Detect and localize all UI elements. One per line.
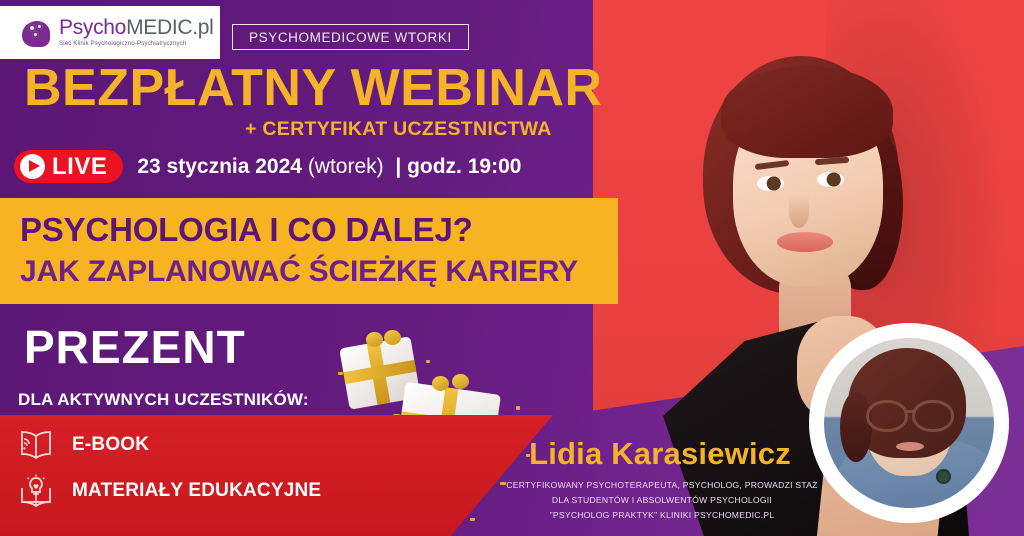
woman-nose — [789, 194, 809, 228]
woman-lips — [777, 232, 833, 252]
woman-eye-right — [817, 172, 844, 187]
main-headline: BEZPŁATNY WEBINAR — [24, 62, 603, 114]
gift-title: PREZENT — [24, 324, 246, 370]
speaker-name: Lidia Karasiewicz — [500, 436, 820, 472]
topic-line-1: PSYCHOLOGIA I CO DALEJ? — [20, 211, 473, 249]
speaker-credentials: CERTYFIKOWANY PSYCHOTERAPEUTA, PSYCHOLOG… — [492, 478, 832, 522]
datetime-separator: | — [395, 155, 401, 178]
live-badge: LIVE — [14, 150, 123, 183]
event-datetime: 23 stycznia 2024 (wtorek) | godz. 19:00 — [137, 155, 521, 179]
event-time: godz. 19:00 — [407, 155, 521, 178]
gift-item-ebook: E-BOOK — [16, 428, 149, 462]
speaker-lips — [896, 442, 924, 451]
gift-item-materials: MATERIAŁY EDUKACYJNE — [16, 474, 321, 508]
speaker-credentials-line-3: "PSYCHOLOG PRAKTYK" KLINIKI PSYCHOMEDIC.… — [492, 508, 832, 523]
head-with-gears-icon — [22, 19, 52, 47]
logo-word-medic: MEDIC.pl — [126, 16, 213, 39]
speaker-glasses-icon — [864, 400, 956, 426]
gift-item-label: E-BOOK — [72, 434, 149, 456]
gift-item-label: MATERIAŁY EDUKACYJNE — [72, 480, 321, 502]
certificate-subheadline: + CERTYFIKAT UCZESTNICTWA — [245, 118, 552, 141]
series-badge: PSYCHOMEDICOWE WTORKI — [232, 24, 469, 50]
speaker-credentials-line-1: CERTYFIKOWANY PSYCHOTERAPEUTA, PSYCHOLOG… — [492, 478, 832, 493]
play-icon — [20, 154, 45, 179]
woman-eye-left — [757, 176, 784, 191]
event-weekday: (wtorek) — [308, 155, 384, 178]
logo-tagline: Sieć Klinik Psychologiczno-Psychiatryczn… — [59, 41, 214, 47]
topic-band: PSYCHOLOGIA I CO DALEJ? JAK ZAPLANOWAĆ Ś… — [0, 198, 618, 304]
woman-fringe — [721, 66, 893, 158]
event-date: 23 stycznia 2024 — [137, 155, 302, 178]
book-lightbulb-icon — [16, 474, 56, 508]
speaker-credentials-line-2: DLA STUDENTÓW I ABSOLWENTÓW PSYCHOLOGII — [492, 493, 832, 508]
logo-word-psycho: Psycho — [59, 16, 126, 39]
schedule-row: LIVE 23 stycznia 2024 (wtorek) | godz. 1… — [14, 150, 521, 183]
psychomedic-logo[interactable]: PsychoMEDIC.pl Sieć Klinik Psychologiczn… — [0, 6, 220, 59]
live-label: LIVE — [52, 155, 107, 179]
topic-line-2: JAK ZAPLANOWAĆ ŚCIEŻKĘ KARIERY — [20, 255, 578, 289]
logo-wordmark: PsychoMEDIC.pl — [59, 17, 214, 38]
open-book-wifi-icon — [16, 428, 56, 462]
gift-subtitle: DLA AKTYWNYCH UCZESTNIKÓW: — [18, 390, 309, 410]
webinar-promo-banner: PsychoMEDIC.pl Sieć Klinik Psychologiczn… — [0, 0, 1024, 536]
speaker-avatar-photo — [824, 338, 994, 508]
speaker-brooch — [936, 469, 951, 484]
speaker-avatar — [816, 330, 1002, 516]
